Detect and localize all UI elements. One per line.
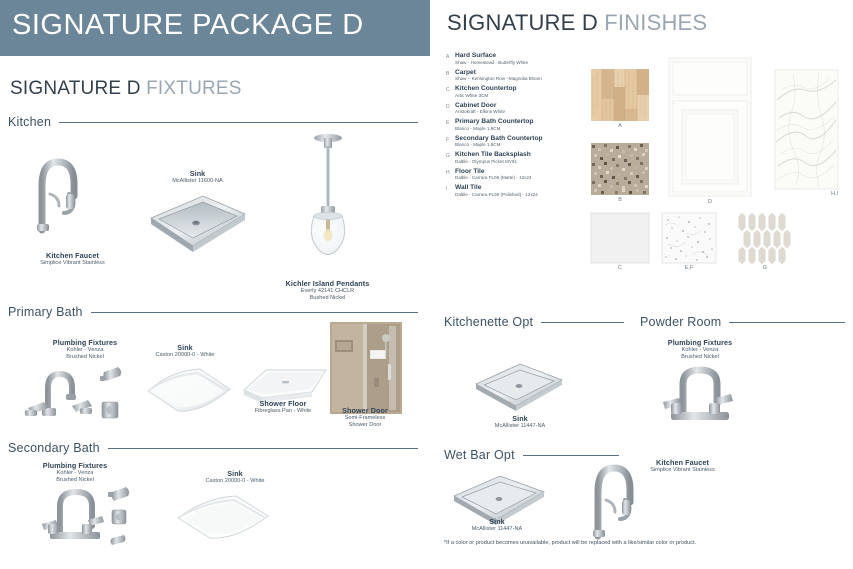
legend-letter: B [446,69,455,82]
spec-sheet-page: SIGNATURE PACKAGE D SIGNATURE D FINISHES… [0,0,853,569]
kitchen-faucet-image [22,150,92,232]
legend-name: Kitchen Countertop [455,85,596,92]
section-rule [523,455,619,456]
product-detail: McAllister 11447-NA [432,526,562,533]
section-header-secondary-bath: Secondary Bath [8,441,418,455]
caption-sb-fixtures: Plumbing Fixtures Kohler - Venza Brushed… [10,462,140,484]
product-detail-2: Brushed Nickel [10,477,140,484]
kitchen-sink-image [145,190,250,260]
caption-wetbar-faucet: Kitchen Faucet Simplice Vibrant Stainles… [610,459,755,474]
shower-door-photo [330,322,402,414]
product-name: Sink [155,470,315,478]
product-detail: Semi-Frameless [300,415,430,422]
legend-name: Secondary Bath Countertop [455,135,596,142]
product-detail: Everly 42141 CHCLR [255,288,400,295]
legend-item: B Carpet Shaw – Kensington Row –Magnolia… [446,69,596,82]
caption-kitchen-sink: Sink McAllister 11600-NA [125,170,270,185]
finishes-title-bold: SIGNATURE D [447,10,598,35]
fixtures-title-bold: SIGNATURE D [10,78,141,99]
product-name: Kitchen Faucet [0,252,145,260]
product-detail: Caxton 20000-0 - White [155,478,315,485]
legend-name: Carpet [455,69,596,76]
legend-detail: Daltile - Carrara FL06 (Polished) - 12x2… [455,192,596,198]
product-name: Sink [455,415,585,423]
legend-letter: D [446,102,455,115]
product-detail-2: Shower Door [300,422,430,429]
legend-item: A Hard Surface Shaw - Homestead - Butter… [446,52,596,65]
caption-pb-sink: Sink Caxton 20000-0 - White [105,344,265,359]
pb-fixtures-image [22,362,137,424]
section-label-primary-bath: Primary Bath [8,305,91,319]
product-name: Kitchen Faucet [610,459,755,467]
caption-wetbar-sink: Sink McAllister 11447-NA [432,518,562,533]
marble-tile-swatch-image [775,70,838,189]
kitchen-pendant-image [300,132,356,267]
swatch-label-g: G [736,265,794,271]
legend-detail: Aristokraft - Elkins White [455,109,596,115]
swatch-kitchen-backsplash: G [736,211,794,263]
section-header-kitchenette: Kitchenette Opt [444,315,624,329]
kitchenette-sink-image [470,358,570,416]
faucet-illustration [22,150,92,232]
legend-detail: Artic White 3CM [455,93,596,99]
product-detail-2: Bushed Nickel [255,295,400,302]
legend-letter: C [446,85,455,98]
legend-detail: Daltile - Olympus Picket MY91 [455,159,596,165]
legend-detail: Shaw - Homestead - Butterfly White [455,60,596,66]
powder-fixtures-image [655,362,745,432]
section-header-primary-bath: Primary Bath [8,305,418,319]
swatch-bath-countertop: E,F [662,213,716,263]
finishes-title-light: FINISHES [604,10,707,35]
pendant-light-illustration [300,132,356,267]
product-detail: Caxton 20000-0 - White [105,352,265,359]
swatch-label-b: B [591,197,649,203]
white-quartz-swatch-image [591,213,649,263]
pb-shower-door-image [330,322,402,414]
section-rule [108,448,418,449]
swatch-label-hi: H,I [775,191,838,197]
legend-detail: Daltile - Carrara FL06 (Matte) - 12x24 [455,175,596,181]
legend-name: Wall Tile [455,184,596,191]
fixtures-title-light: FIXTURES [146,78,242,99]
legend-letter: A [446,52,455,65]
product-detail: Kohler - Venza [635,347,765,354]
product-detail: Simplice Vibrant Stainless [0,260,145,267]
finishes-title: SIGNATURE D FINISHES [447,10,707,36]
section-label-kitchenette: Kitchenette Opt [444,315,541,329]
legend-letter: E [446,118,455,131]
product-name: Sink [125,170,270,178]
legend-name: Floor Tile [455,168,596,175]
legend-name: Kitchen Tile Backsplash [455,151,596,158]
disclaimer-footnote: *If a color or product becomes unavailab… [444,540,844,546]
product-detail-2: Brushed Nickel [635,354,765,361]
legend-detail: Shaw – Kensington Row –Magnolia Bloom [455,76,596,82]
swatch-hard-surface: A [591,69,649,121]
swatch-kitchen-countertop: C [591,213,649,263]
swatch-floor-wall-tile: H,I [775,70,838,189]
section-rule [59,122,418,123]
product-name: Sink [432,518,562,526]
caption-kitchen-pendants: Kichler Island Pendants Everly 42141 CHC… [255,280,400,302]
caption-kitchen-faucet: Kitchen Faucet Simplice Vibrant Stainles… [0,252,145,267]
legend-name: Primary Bath Countertop [455,118,596,125]
picket-tile-swatch-image [736,211,794,263]
section-label-powder-room: Powder Room [640,315,729,329]
product-name: Plumbing Fixtures [635,339,765,347]
sb-fixtures-image [36,486,151,558]
finishes-legend: A Hard Surface Shaw - Homestead - Butter… [446,52,596,201]
caption-powder-fixtures: Plumbing Fixtures Kohler - Venza Brushed… [635,339,765,361]
product-detail: McAllister 11447-NA [455,423,585,430]
swatch-label-d: D [668,199,752,205]
product-detail: Simplice Vibrant Stainless [610,467,755,474]
product-name: Kichler Island Pendants [255,280,400,288]
swatch-carpet: B [591,143,649,195]
kitchenette-sink-illustration [470,358,570,416]
section-label-kitchen: Kitchen [8,115,59,129]
legend-item: H Floor Tile Daltile - Carrara FL06 (Mat… [446,168,596,181]
legend-item: E Primary Bath Countertop Blanco - Maple… [446,118,596,131]
legend-item: D Cabinet Door Aristokraft - Elkins Whit… [446,102,596,115]
speckled-quartz-swatch-image [662,213,716,263]
section-header-kitchen: Kitchen [8,115,418,129]
legend-item: G Kitchen Tile Backsplash Daltile - Olym… [446,151,596,164]
legend-letter: G [446,151,455,164]
legend-item: F Secondary Bath Countertop Blanco - Map… [446,135,596,148]
caption-pb-shower-door: Shower Door Semi-Frameless Shower Door [300,407,430,429]
swatch-label-ef: E,F [662,265,716,271]
section-label-secondary-bath: Secondary Bath [8,441,108,455]
legend-letter: F [446,135,455,148]
legend-letter: H [446,168,455,181]
section-rule [729,322,845,323]
swatch-label-c: C [591,265,649,271]
legend-letter: I [446,184,455,197]
cabinet-door-swatch-image [668,57,752,197]
section-header-powder-room: Powder Room [640,315,845,329]
section-rule [91,312,418,313]
caption-sb-sink: Sink Caxton 20000-0 - White [155,470,315,485]
carpet-swatch-image [591,143,649,195]
bath-faucet-illustration [22,362,137,424]
powder-room-faucet-illustration [655,362,745,432]
secondary-bath-faucet-illustration [36,486,151,558]
swatch-label-a: A [591,123,649,129]
section-rule [541,322,624,323]
secondary-sink-illustration [170,490,275,548]
sink-illustration [145,190,250,260]
section-label-wet-bar: Wet Bar Opt [444,448,523,462]
legend-name: Hard Surface [455,52,596,59]
page-title: SIGNATURE PACKAGE D [12,9,364,42]
product-detail: Kohler - Venza [10,470,140,477]
legend-item: C Kitchen Countertop Artic White 3CM [446,85,596,98]
legend-name: Cabinet Door [455,102,596,109]
product-name: Plumbing Fixtures [10,462,140,470]
sb-sink-image [170,490,275,548]
legend-detail: Blanco - Maple 1.6CM [455,126,596,132]
legend-detail: Blanco - Maple 1.6CM [455,142,596,148]
product-name: Sink [105,344,265,352]
fixtures-title: SIGNATURE D FIXTURES [10,78,242,100]
legend-item: I Wall Tile Daltile - Carrara FL06 (Poli… [446,184,596,197]
swatch-cabinet-door: D [668,57,752,197]
package-title-band: SIGNATURE PACKAGE D [0,0,430,56]
product-name: Shower Door [300,407,430,415]
caption-kitchenette-sink: Sink McAllister 11447-NA [455,415,585,430]
wood-floor-swatch-image [591,69,649,121]
product-detail: McAllister 11600-NA [125,178,270,185]
